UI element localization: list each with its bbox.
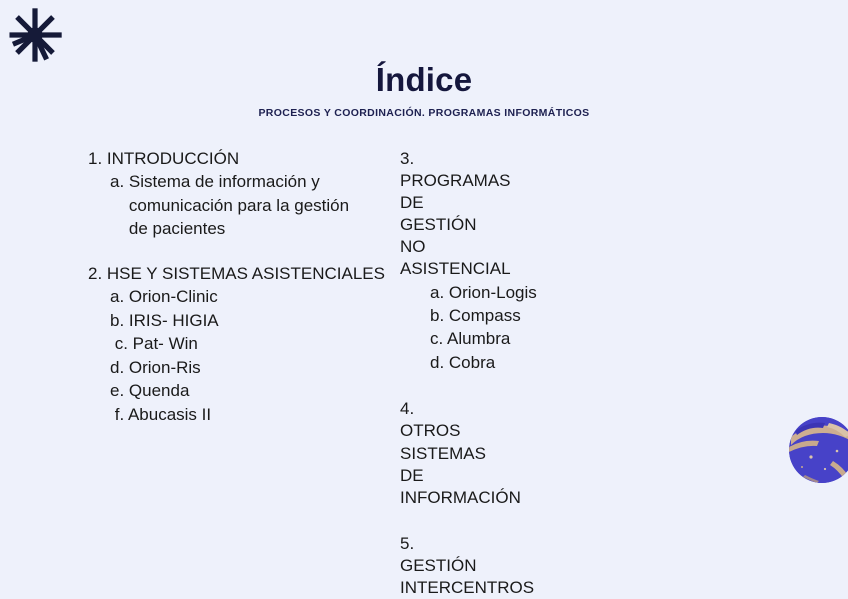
slide-header: Índice PROCESOS Y COORDINACIÓN. PROGRAMA…	[0, 62, 848, 119]
starburst-icon	[6, 6, 64, 64]
slide-canvas: Índice PROCESOS Y COORDINACIÓN. PROGRAMA…	[0, 0, 848, 483]
index-columns: 1. INTRODUCCIÓN a. Sistema de informació…	[0, 148, 848, 599]
list-item: d. Cobra	[400, 351, 430, 374]
list-item: a. Orion-Logis	[400, 281, 430, 304]
index-column-right: 3. PROGRAMAS DE GESTIÓN NO ASISTENCIAL a…	[0, 148, 400, 599]
list-item: b. Compass	[400, 304, 430, 327]
planet-circle-image	[789, 417, 848, 483]
list-item: c. Alumbra	[400, 327, 430, 350]
page-subtitle: PROCESOS Y COORDINACIÓN. PROGRAMAS INFOR…	[0, 107, 848, 119]
page-title: Índice	[0, 62, 848, 98]
